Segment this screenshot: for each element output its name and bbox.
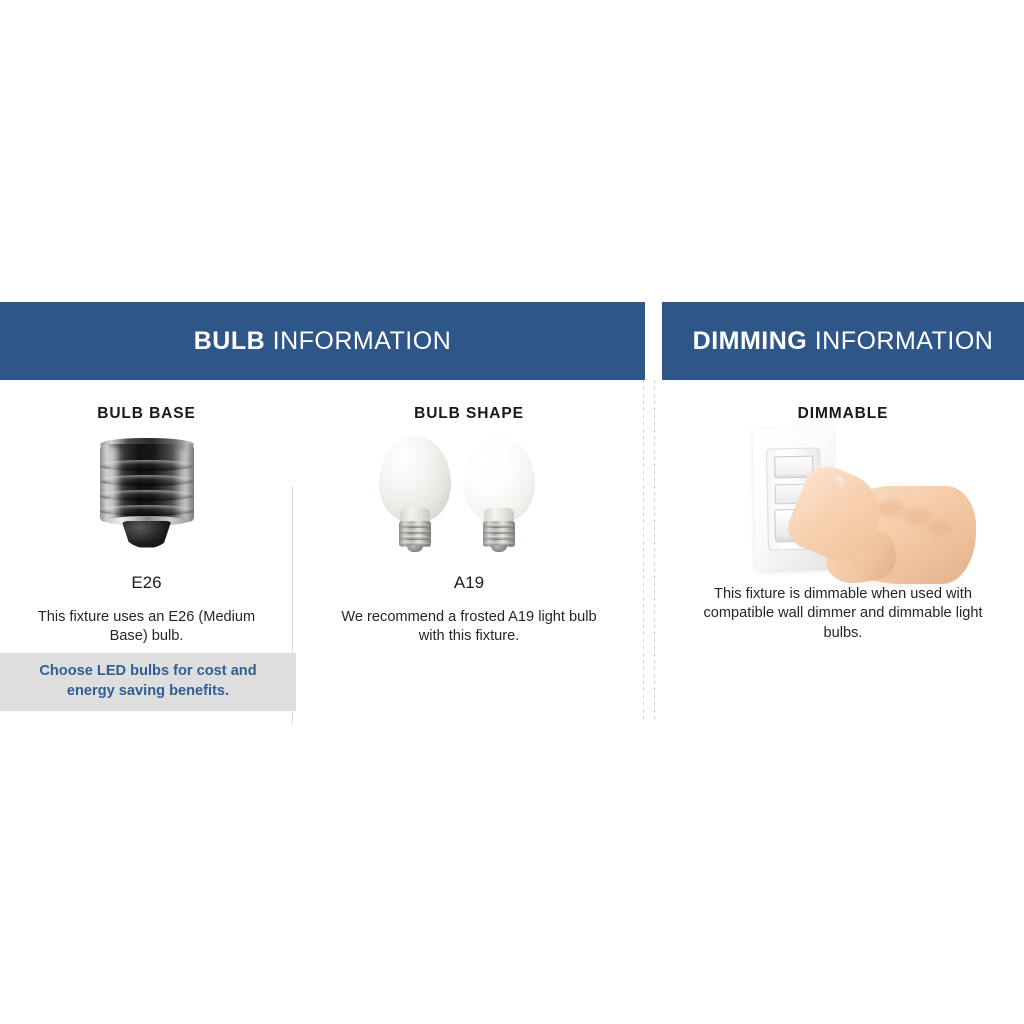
bulb-base-artwork: [0, 436, 293, 568]
bulb-shape-value: A19: [293, 574, 645, 591]
panel-dotted-separator-right: [654, 380, 655, 720]
bulb-base-column: BULB BASE: [0, 380, 293, 647]
bulb-shape-title: BULB SHAPE: [293, 406, 645, 422]
led-tip-banner: Choose LED bulbs for cost and energy sav…: [0, 653, 296, 711]
bulb-base-title: BULB BASE: [0, 406, 293, 422]
dimming-header-light: INFORMATION: [815, 327, 994, 355]
bulb-information-header: BULB INFORMATION: [0, 302, 645, 380]
dimming-information-panel: DIMMING INFORMATION DIMMABLE: [662, 302, 1024, 644]
dimming-information-header: DIMMING INFORMATION: [662, 302, 1024, 380]
bulb-information-body: BULB BASE: [0, 380, 645, 647]
e26-screw-base-icon: [95, 438, 199, 550]
dimmable-title: DIMMABLE: [662, 406, 1024, 422]
wall-dimmer-hand-icon: [662, 428, 1024, 578]
dimmable-description: This fixture is dimmable when used with …: [693, 585, 993, 645]
hand-icon: [782, 472, 972, 587]
bulb-base-value: E26: [0, 574, 293, 591]
dimmable-column: DIMMABLE: [662, 380, 1024, 644]
led-tip-text: Choose LED bulbs for cost and energy sav…: [23, 662, 273, 701]
bulb-shape-column: BULB SHAPE: [293, 380, 645, 647]
a19-bulb-pair-icon: [293, 436, 645, 568]
dimming-header-strong: DIMMING: [693, 327, 808, 355]
infographic-canvas: BULB INFORMATION BULB BASE: [0, 0, 1024, 1024]
bulb-header-strong: BULB: [194, 327, 265, 355]
bulb-information-panel: BULB INFORMATION BULB BASE: [0, 302, 645, 647]
bulb-base-description: This fixture uses an E26 (Medium Base) b…: [22, 608, 272, 648]
bulb-shape-description: We recommend a frosted A19 light bulb wi…: [335, 608, 603, 648]
bulb-shape-artwork: [293, 436, 645, 568]
dimming-information-body: DIMMABLE: [662, 380, 1024, 644]
bulb-header-light: INFORMATION: [273, 327, 452, 355]
dimmable-artwork: [662, 436, 1024, 568]
